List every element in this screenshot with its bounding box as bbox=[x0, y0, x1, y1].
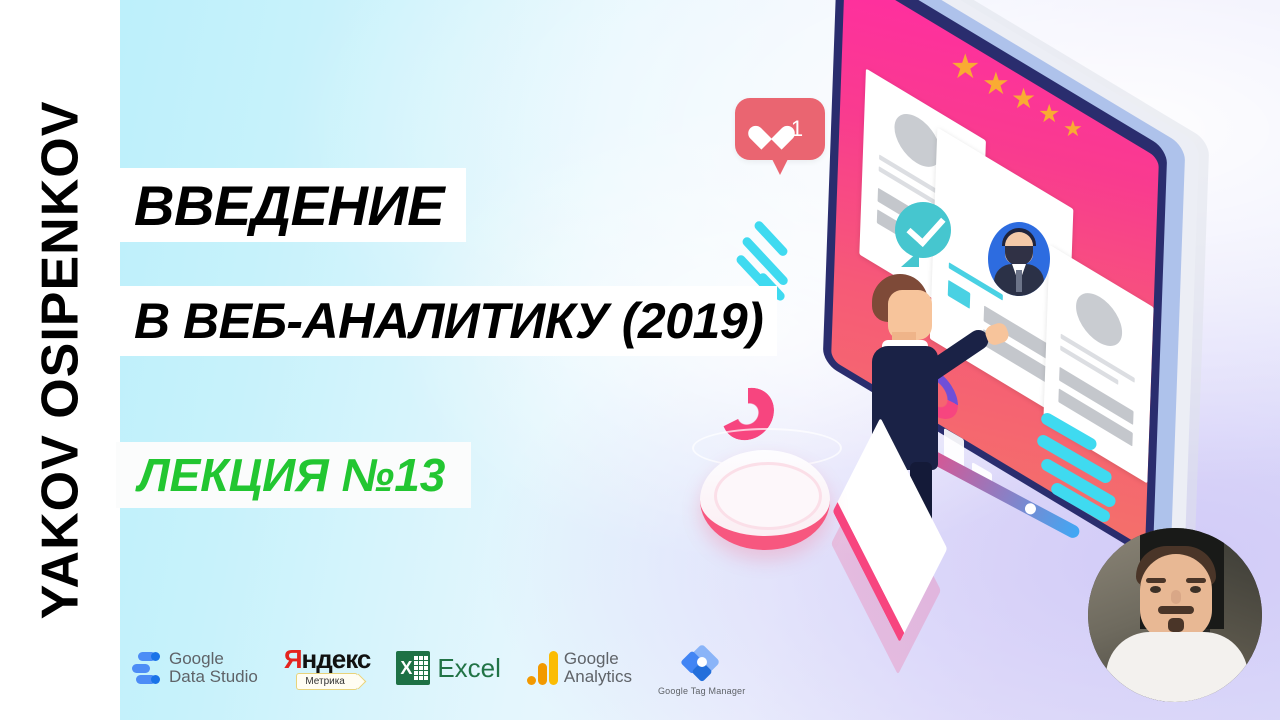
data-studio-line1: Google bbox=[169, 650, 258, 668]
like-count: 1 bbox=[791, 116, 803, 142]
star-icon: ★ bbox=[982, 68, 1010, 99]
author-name: YAKOV OSIPENKOV bbox=[30, 101, 90, 620]
verified-check-icon bbox=[895, 202, 951, 258]
yandex-wordmark: Яндекс bbox=[284, 646, 371, 672]
analytics-line2: Analytics bbox=[564, 668, 632, 686]
avatar-brow bbox=[1146, 578, 1166, 583]
slider-knob bbox=[1023, 501, 1038, 516]
presenter-avatar bbox=[1088, 528, 1262, 702]
profile-avatar-icon bbox=[894, 104, 942, 177]
avatar-tie bbox=[1016, 270, 1022, 292]
cylinder-inner bbox=[714, 462, 822, 530]
author-name-strip: YAKOV OSIPENKOV bbox=[0, 0, 120, 720]
data-studio-icon bbox=[132, 652, 162, 684]
data-studio-label: Google Data Studio bbox=[169, 650, 258, 686]
speed-lines-right bbox=[1038, 410, 1158, 520]
yandex-rest-letters: ндекс bbox=[302, 644, 371, 674]
star-icon: ★ bbox=[950, 50, 980, 84]
star-icon: ★ bbox=[1063, 118, 1083, 140]
avatar-eye bbox=[1190, 586, 1201, 593]
logo-excel: X Excel bbox=[396, 651, 501, 685]
analytics-label: Google Analytics bbox=[564, 650, 632, 686]
logo-google-tag-manager: Google Tag Manager bbox=[658, 640, 746, 696]
analytics-line1: Google bbox=[564, 650, 632, 668]
title-line-2: В ВЕБ-АНАЛИТИКУ (2019) bbox=[116, 286, 777, 356]
excel-icon: X bbox=[396, 651, 430, 685]
excel-label: Excel bbox=[437, 653, 501, 684]
metrica-tag: Метрика bbox=[296, 673, 358, 690]
star-icon: ★ bbox=[1038, 102, 1060, 127]
excel-grid-glyph bbox=[413, 655, 428, 681]
data-studio-line2: Data Studio bbox=[169, 668, 258, 686]
heart-icon bbox=[757, 116, 785, 142]
avatar-eye bbox=[1150, 586, 1161, 593]
check-mark-glyph bbox=[906, 207, 945, 247]
logo-google-data-studio: Google Data Studio bbox=[132, 650, 258, 686]
logo-yandex-metrica: Яндекс Метрика bbox=[284, 646, 371, 690]
avatar-goatee bbox=[1168, 618, 1184, 632]
star-rating: ★ ★ ★ ★ ★ bbox=[950, 50, 1130, 170]
logo-google-analytics: Google Analytics bbox=[527, 650, 632, 686]
tag-manager-label: Google Tag Manager bbox=[658, 686, 746, 696]
analytics-icon bbox=[527, 651, 557, 685]
user-avatar-icon bbox=[988, 222, 1050, 296]
profile-avatar-icon bbox=[1075, 283, 1123, 356]
like-badge: 1 bbox=[735, 98, 825, 160]
video-thumbnail: 1 ★ ★ ★ ★ ★ bbox=[0, 0, 1280, 720]
title-line-1: ВВЕДЕНИЕ bbox=[116, 168, 466, 242]
star-icon: ★ bbox=[1011, 85, 1036, 113]
avatar-moustache bbox=[1158, 606, 1194, 614]
avatar-shirt bbox=[1106, 632, 1248, 702]
tool-logos: Google Data Studio Яндекс Метрика X Exce… bbox=[132, 632, 745, 704]
tag-manager-icon bbox=[680, 640, 724, 684]
excel-x-glyph: X bbox=[399, 657, 413, 679]
lecture-number: ЛЕКЦИЯ №13 bbox=[116, 442, 471, 508]
avatar-beard bbox=[1005, 246, 1033, 266]
yandex-accent-letter: Я bbox=[284, 644, 302, 674]
avatar-nose bbox=[1171, 590, 1181, 604]
avatar-brow bbox=[1186, 578, 1206, 583]
